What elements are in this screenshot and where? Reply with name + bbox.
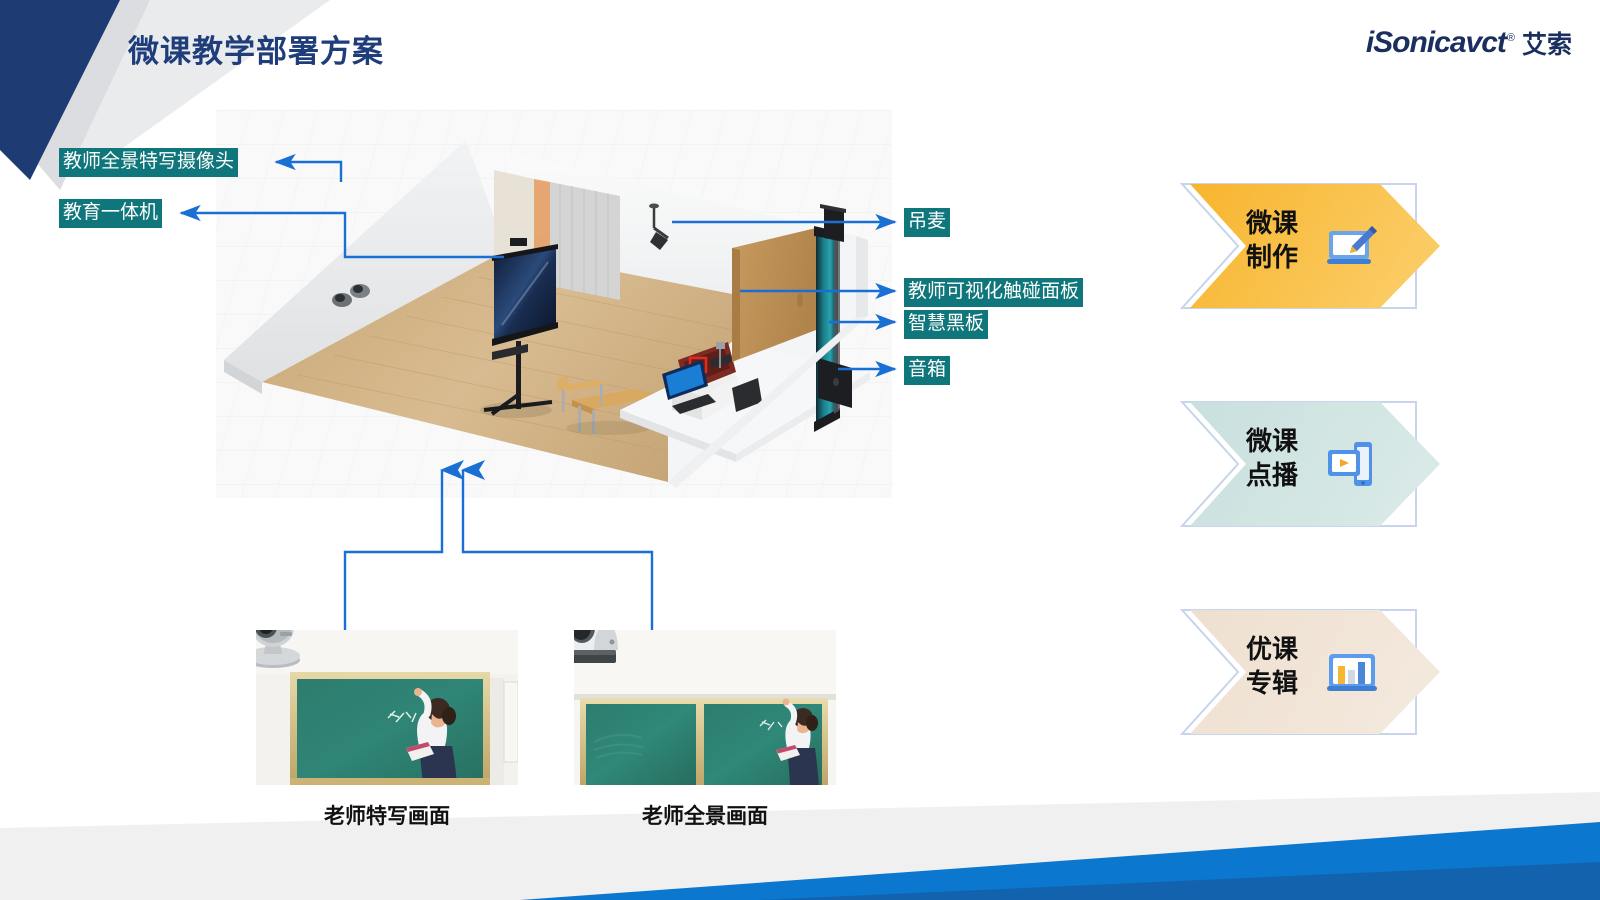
photo-teacher-closeup	[256, 630, 518, 785]
chevron-label-3-line1: 优课	[1246, 632, 1298, 666]
chevron-label-2-line2: 点播	[1246, 458, 1298, 492]
bar-chart-icon	[1326, 646, 1378, 698]
label-smart-blackboard: 智慧黑板	[904, 310, 988, 339]
label-teacher-touch-panel: 教师可视化触碰面板	[904, 278, 1083, 307]
chevron-fill-3	[1190, 608, 1440, 736]
chevron-label-3: 优课 专辑	[1246, 632, 1298, 700]
tablet-pen-icon	[1326, 220, 1378, 272]
chevron-label-2-line1: 微课	[1246, 424, 1298, 458]
chevron-label-1-line1: 微课	[1246, 206, 1298, 240]
label-hanging-microphone: 吊麦	[904, 208, 950, 237]
photo-teacher-panorama	[574, 630, 836, 785]
caption-teacher-panorama: 老师全景画面	[574, 800, 836, 830]
line-to-aio	[181, 213, 504, 257]
caption-teacher-closeup: 老师特写画面	[256, 800, 518, 830]
chevron-youke-album[interactable]: 优课 专辑	[1168, 608, 1418, 736]
ptz-camera-icon	[574, 630, 634, 668]
slide-canvas: 微课教学部署方案 iSonicavct ® 艾索	[0, 0, 1600, 900]
chevron-fill-2	[1190, 400, 1440, 528]
line-to-camera	[276, 162, 341, 182]
line-photo1-up	[345, 470, 442, 641]
dome-camera-icon	[256, 630, 308, 670]
label-panorama-closeup-camera: 教师全景特写摄像头	[59, 148, 238, 177]
label-education-all-in-one: 教育一体机	[59, 199, 162, 228]
chevron-label-2: 微课 点播	[1246, 424, 1298, 492]
chevron-weike-ondemand[interactable]: 微课 点播	[1168, 400, 1418, 528]
video-play-icon	[1326, 438, 1378, 490]
chevron-fill-1	[1190, 182, 1440, 310]
line-photo2-up	[463, 470, 652, 641]
chevron-label-1: 微课 制作	[1246, 206, 1298, 274]
chevron-label-1-line2: 制作	[1246, 240, 1298, 274]
chevron-weike-production[interactable]: 微课 制作	[1168, 182, 1418, 310]
chevron-label-3-line2: 专辑	[1246, 666, 1298, 700]
label-speaker: 音箱	[904, 356, 950, 385]
